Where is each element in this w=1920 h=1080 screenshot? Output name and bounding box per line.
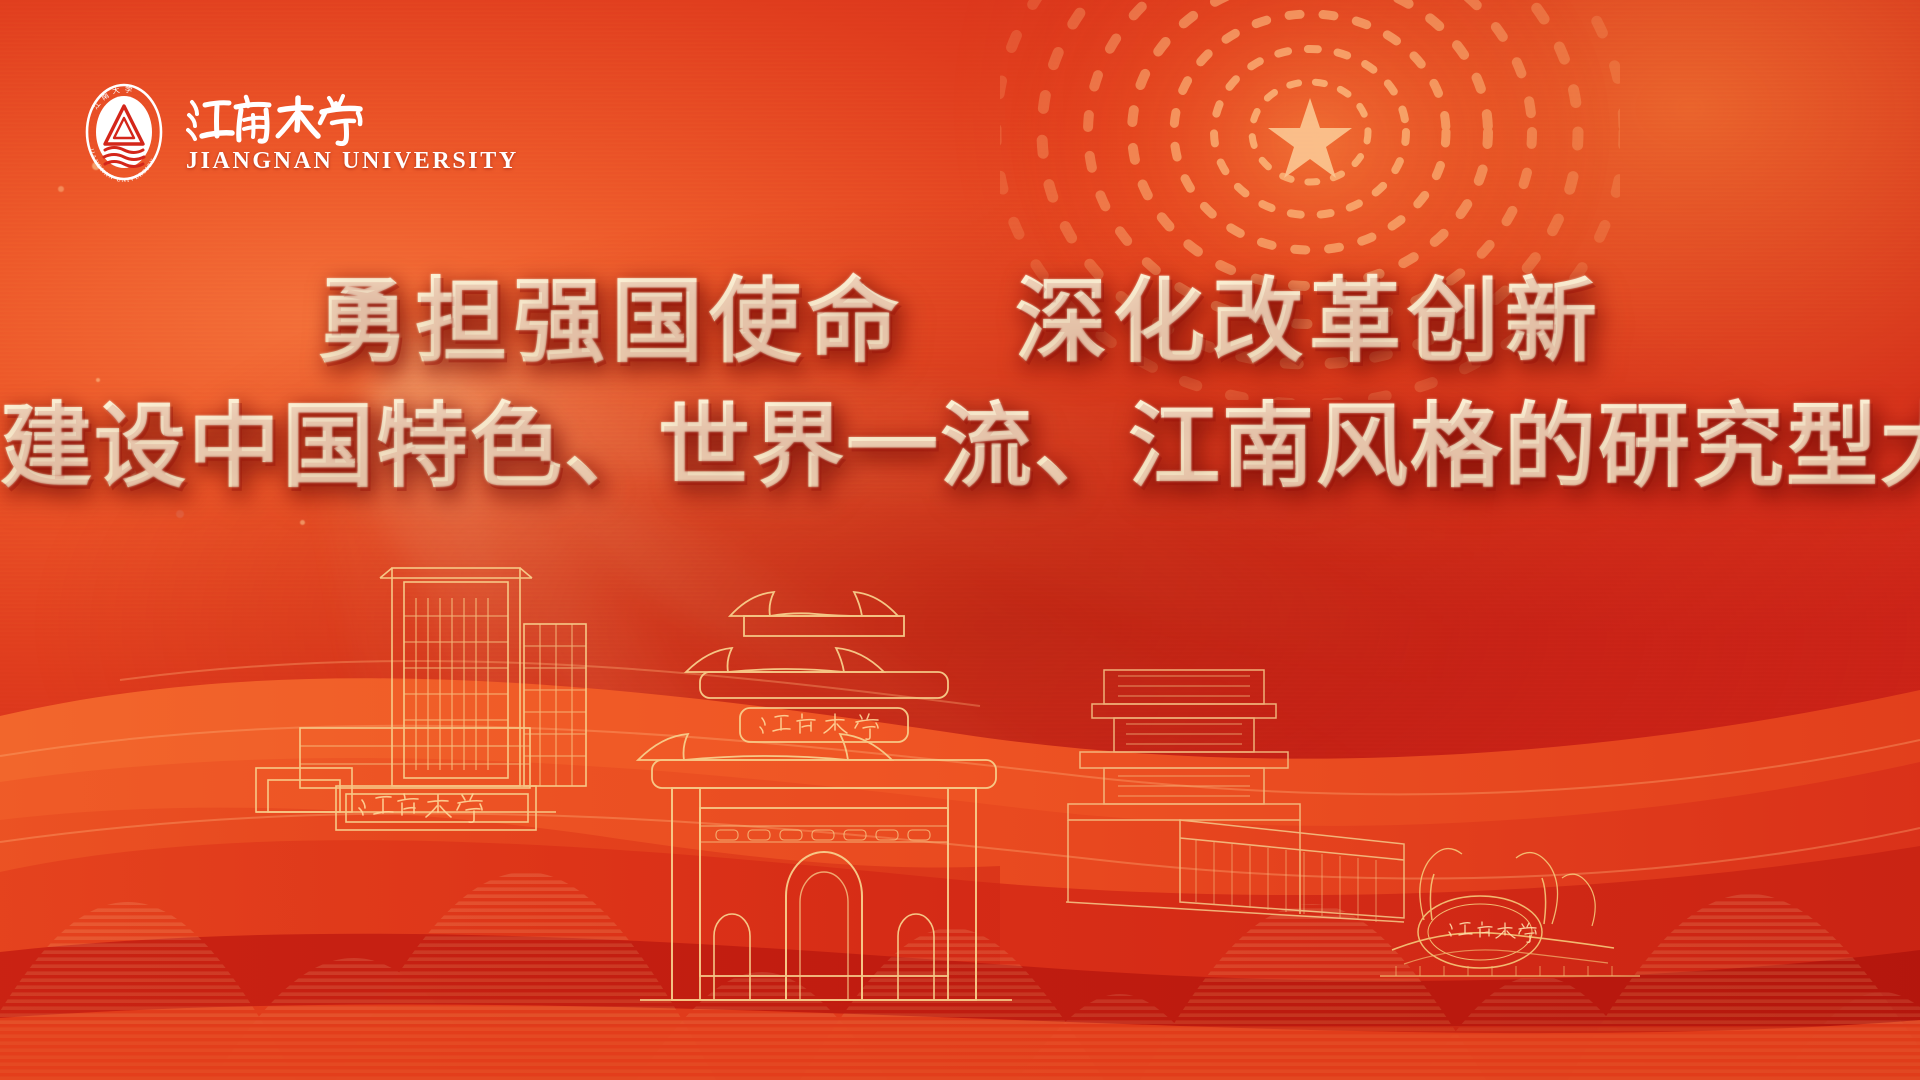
university-logo: 江南大学 JIANGNAN UNIVERSITY [78, 80, 519, 184]
banner-poster: 江南大学 JIANGNAN UNIVERSITY [0, 0, 1920, 1080]
logo-english-name: JIANGNAN UNIVERSITY [186, 148, 519, 175]
headline-line-2: 建设中国特色、世界一流、江南风格的研究型大学 [0, 393, 1920, 502]
headline-line1-part1: 勇担强国使命 [317, 271, 905, 373]
jiangnan-university-crest-icon: 江南大学 JIANGNAN UNIVERSITY [78, 80, 170, 184]
headline-block: 勇担强国使命 深化改革创新 建设中国特色、世界一流、江南风格的研究型大学 [0, 268, 1920, 501]
logo-wordmark: JIANGNAN UNIVERSITY [186, 84, 519, 175]
logo-chinese-name-calligraphy [186, 84, 519, 146]
speck [58, 186, 64, 192]
headline-line-1: 勇担强国使命 深化改革创新 [0, 268, 1920, 377]
speck [176, 510, 184, 518]
bottom-scenery [0, 520, 1920, 1080]
headline-line1-part2: 深化改革创新 [1015, 271, 1603, 373]
